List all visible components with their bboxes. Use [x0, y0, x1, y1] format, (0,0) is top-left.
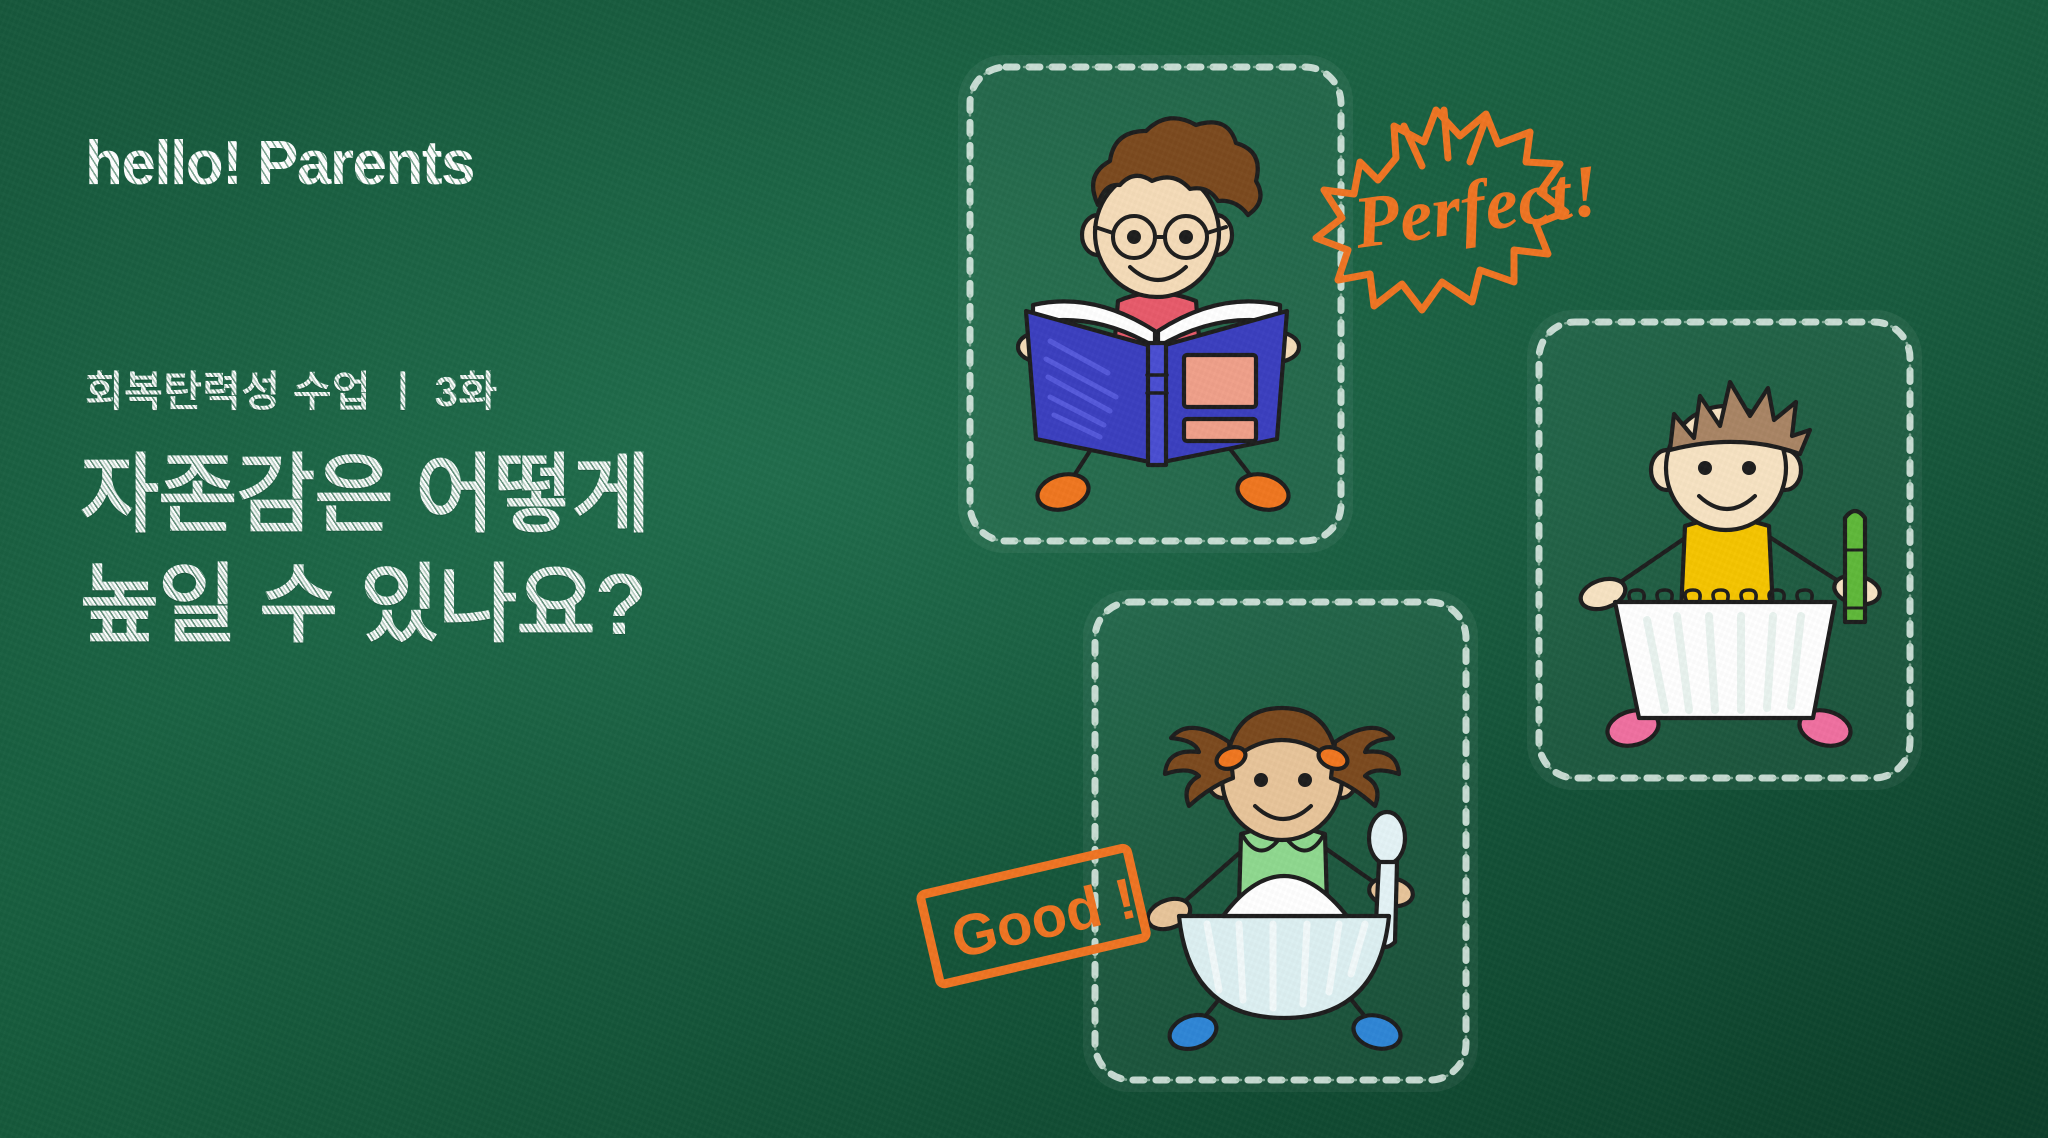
brand-logo: hello! Parents	[85, 128, 474, 199]
series-label-text: 회복탄력성 수업 ㅣ 3화	[85, 368, 498, 415]
illustration-panel-drawing	[1527, 310, 1922, 790]
series-label: 회복탄력성 수업 ㅣ 3화	[85, 358, 498, 419]
child-reading-illustration	[958, 55, 1353, 553]
illustration-panel-reading	[958, 55, 1353, 553]
good-stamp-badge: Good !	[912, 838, 1157, 998]
headline-line-1: 자존감은 어떻게	[80, 440, 650, 550]
page-title: 자존감은 어떻게 높일 수 있나요?	[80, 440, 650, 660]
headline-line-2: 높일 수 있나요?	[80, 550, 650, 660]
perfect-starburst-badge: Perfect!	[1308, 70, 1668, 335]
brand-logo-text: hello! Parents	[85, 128, 474, 199]
slide-canvas: hello! Parents 회복탄력성 수업 ㅣ 3화 자존감은 어떻게 높일…	[0, 0, 2048, 1138]
child-drawing-illustration	[1527, 310, 1922, 790]
